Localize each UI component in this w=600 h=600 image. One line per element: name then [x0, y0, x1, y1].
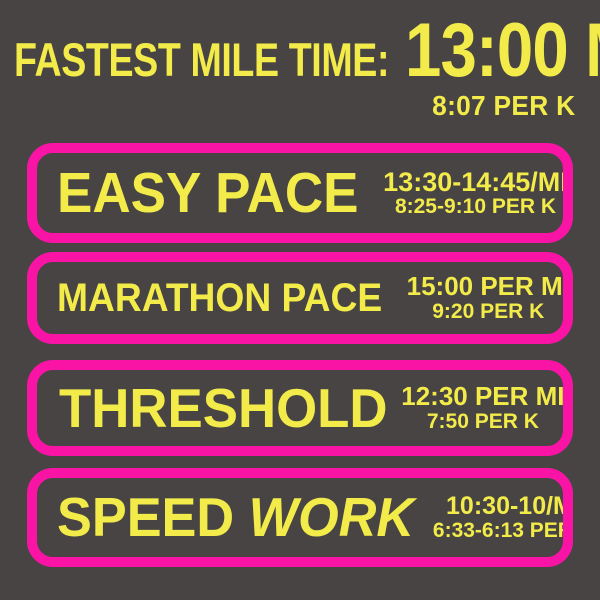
pace-row-values: 10:30-10/MI 6:33-6:13 PER K [433, 493, 573, 541]
pace-chart-poster: FASTEST MILE TIME: 13:00 MI 8:07 PER K E… [0, 0, 600, 600]
fastest-mile-time-value: 13:00 MI [405, 16, 600, 86]
fastest-mile-time-per-k: 8:07 PER K [432, 92, 575, 120]
pace-row-name: SPEED WORK [57, 490, 414, 545]
header-main-line: FASTEST MILE TIME: 13:00 MI [14, 16, 586, 86]
pace-row-values: 13:30-14:45/MI 8:25-9:10 PER K [383, 168, 568, 218]
pace-row[interactable]: MARATHON PACE 15:00 PER MI 9:20 PER K [27, 252, 573, 344]
pace-row[interactable]: EASY PACE 13:30-14:45/MI 8:25-9:10 PER K [27, 143, 573, 243]
pace-row-name: EASY PACE [57, 165, 358, 222]
pace-row-secondary-value: 6:33-6:13 PER K [433, 520, 573, 542]
pace-row-name: THRESHOLD [59, 381, 388, 436]
pace-row-values: 12:30 PER MI 7:50 PER K [401, 383, 564, 432]
pace-row-values: 15:00 PER MI 9:20 PER K [407, 273, 570, 322]
pace-row-name-plain: SPEED [57, 486, 249, 548]
pace-row-primary-value: 12:30 PER MI [401, 383, 564, 410]
pace-row-secondary-value: 8:25-9:10 PER K [395, 196, 556, 218]
pace-row-secondary-value: 9:20 PER K [432, 301, 544, 323]
pace-row-primary-value: 10:30-10/MI [446, 493, 573, 519]
fastest-mile-time-label: FASTEST MILE TIME: [14, 36, 389, 83]
pace-row-secondary-value: 7:50 PER K [427, 411, 539, 433]
pace-row-primary-value: 13:30-14:45/MI [383, 168, 568, 196]
pace-row[interactable]: SPEED WORK 10:30-10/MI 6:33-6:13 PER K [27, 468, 573, 567]
pace-row-primary-value: 15:00 PER MI [407, 273, 570, 300]
pace-row-name: MARATHON PACE [57, 278, 382, 318]
pace-row[interactable]: THRESHOLD 12:30 PER MI 7:50 PER K [27, 360, 573, 456]
header: FASTEST MILE TIME: 13:00 MI 8:07 PER K [0, 0, 600, 135]
pace-rows: EASY PACE 13:30-14:45/MI 8:25-9:10 PER K… [0, 138, 600, 600]
pace-row-name-slanted: WORK [249, 490, 414, 545]
